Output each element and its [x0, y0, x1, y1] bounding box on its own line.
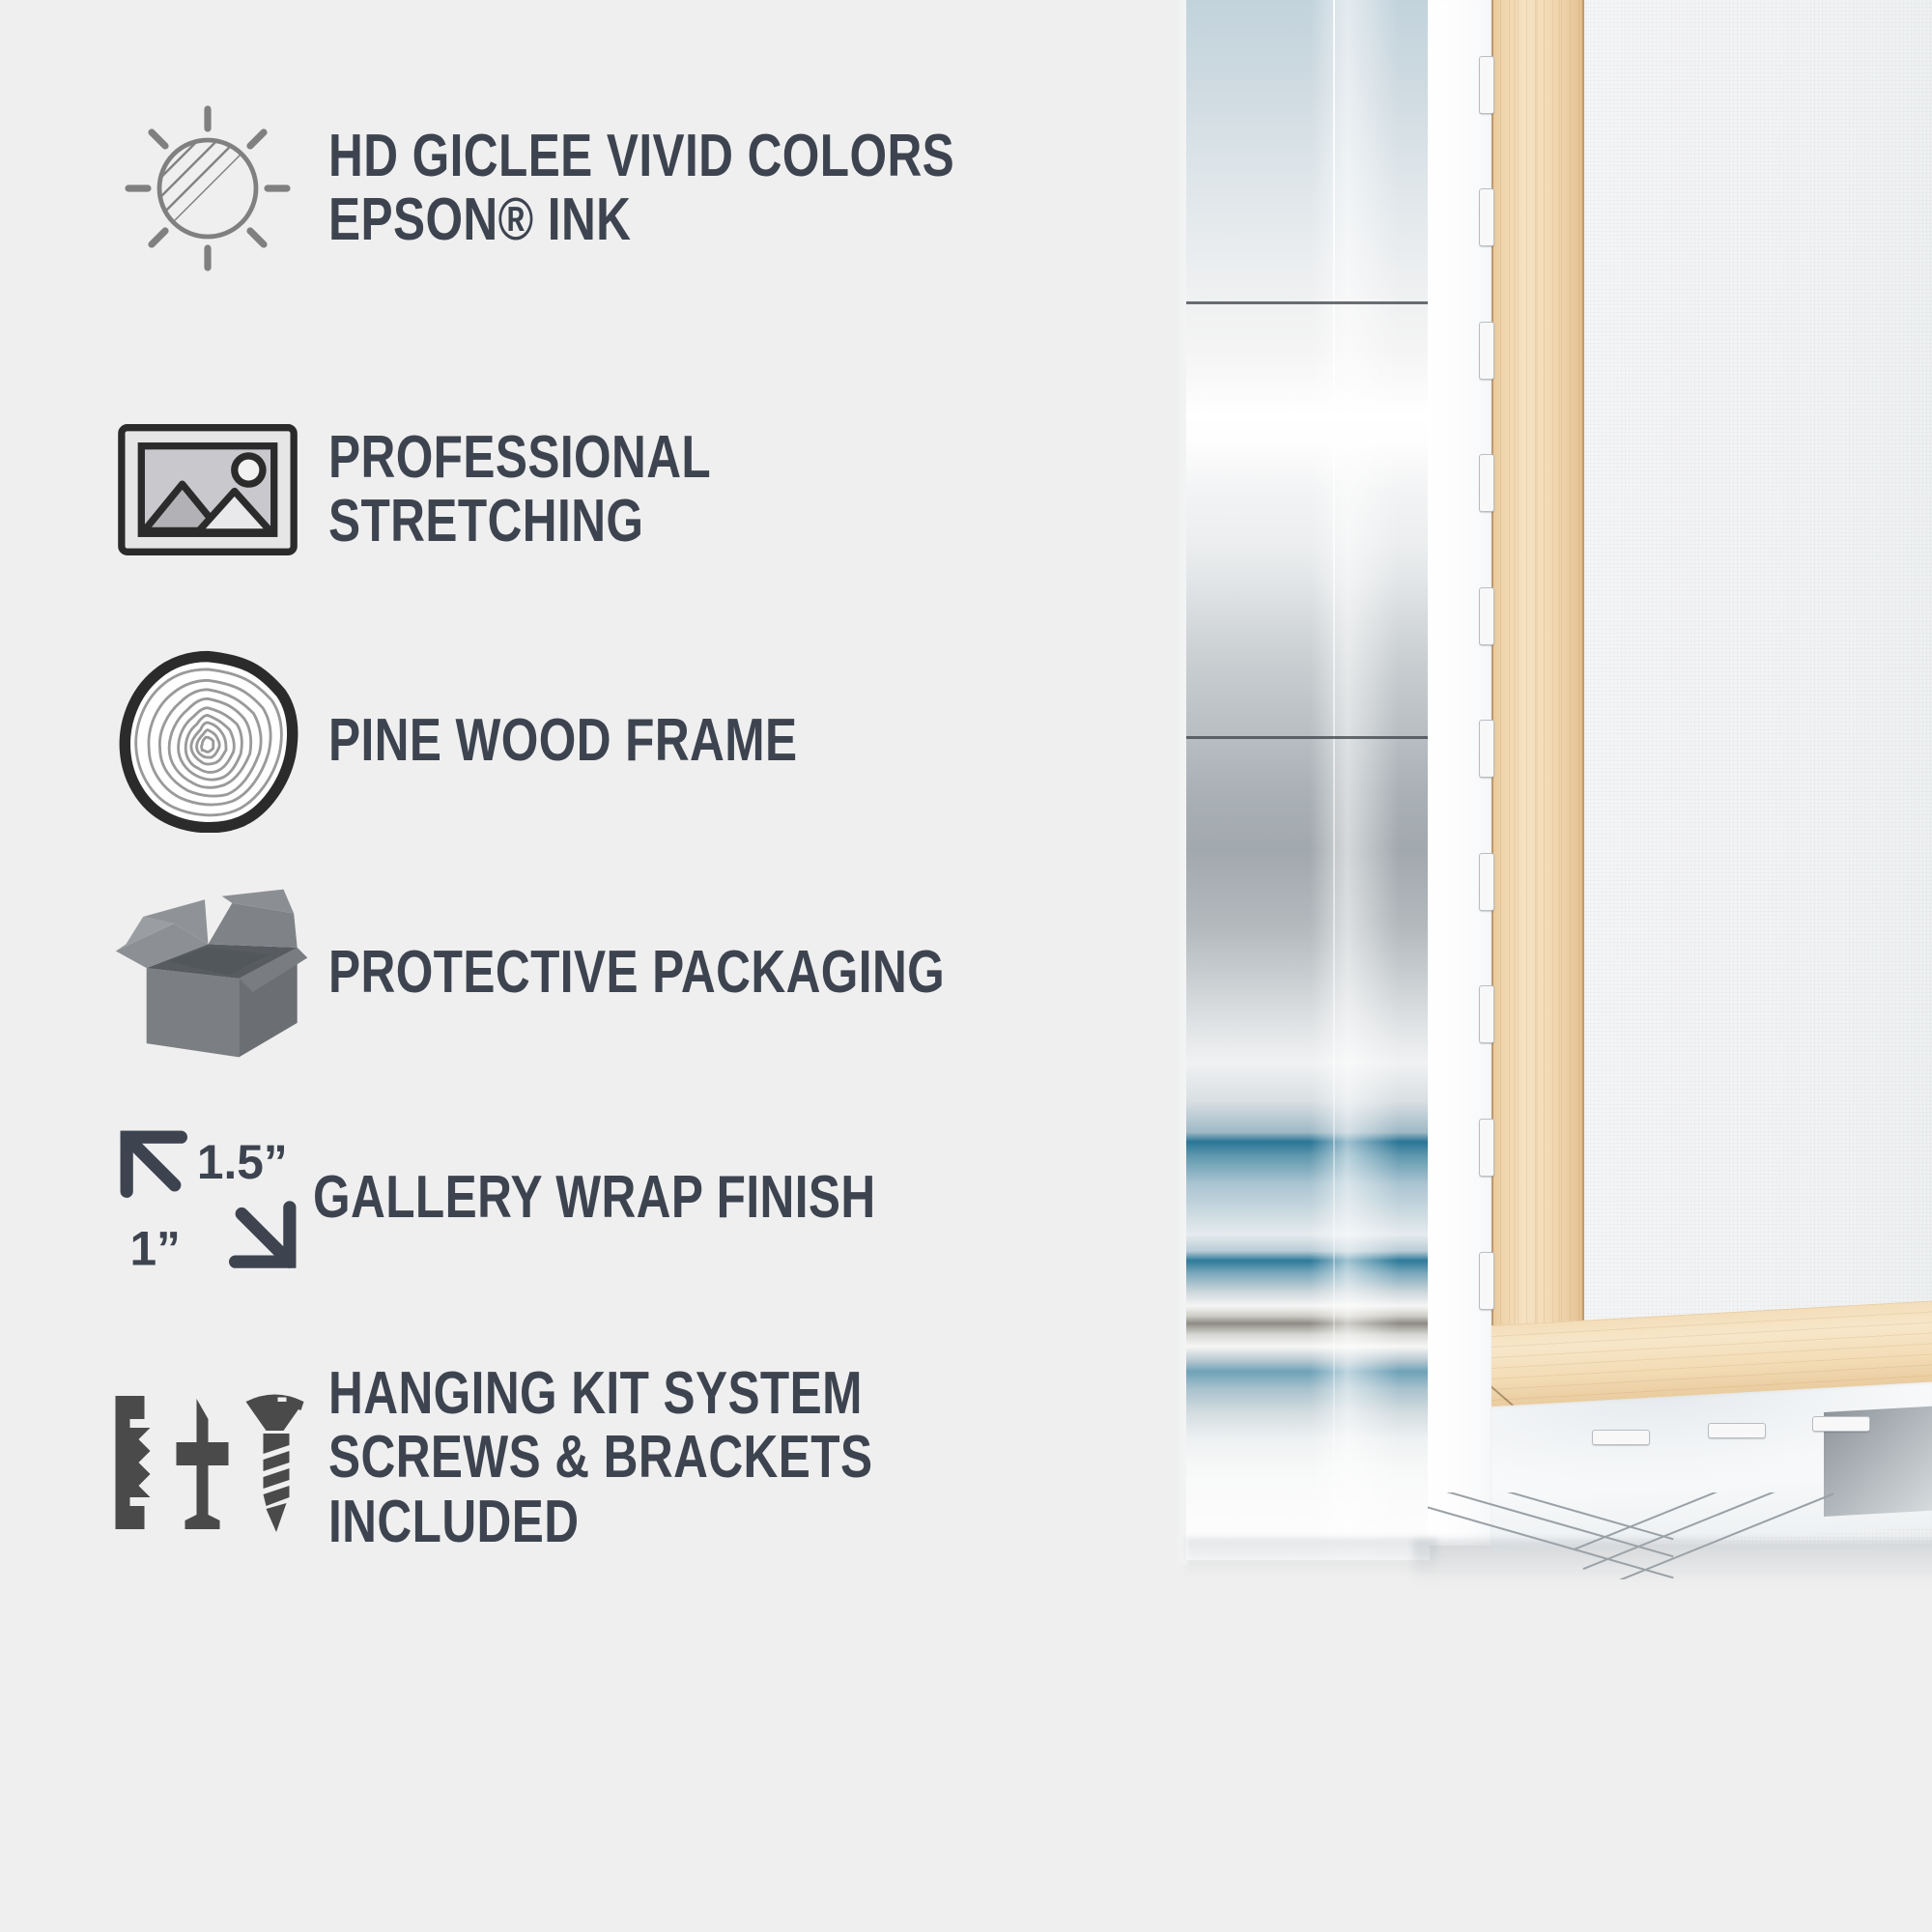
- feature-row-gallery-wrap-finish: 1.5” 1” GALLERY WRAP FINISH: [97, 1116, 1016, 1280]
- product-photo: [1186, 0, 1932, 1584]
- sun-icon: [97, 92, 319, 285]
- wrap-printed-face: [1186, 0, 1430, 1560]
- gallery-wrap-depth-bottom: 1”: [129, 1221, 180, 1275]
- feature-row-pine-wood-frame: PINE WOOD FRAME: [97, 649, 915, 833]
- staple: [1479, 1252, 1494, 1310]
- tree-rings-icon: [97, 649, 319, 833]
- staple: [1479, 985, 1494, 1043]
- gallery-wrap-depth-top: 1.5”: [196, 1135, 287, 1189]
- feature-row-professional-stretching: PROFESSIONAL STRETCHING: [97, 417, 1207, 562]
- feature-row-hanging-kit: HANGING KIT SYSTEM SCREWS & BRACKETS INC…: [97, 1362, 1207, 1554]
- staple: [1592, 1430, 1650, 1445]
- staple: [1479, 454, 1494, 512]
- picture-frame-icon: [97, 417, 319, 562]
- product-drop-shadow-left: [1186, 1538, 1437, 1577]
- wood-grain-texture: [1492, 0, 1584, 1418]
- gallery-wrap-icon: 1.5” 1”: [97, 1116, 319, 1280]
- feature-label: PROTECTIVE PACKAGING: [328, 941, 945, 1005]
- feature-row-hd-giclee: HD GICLEE VIVID COLORS EPSON® INK: [97, 92, 1111, 285]
- staple: [1479, 188, 1494, 246]
- feature-label: GALLERY WRAP FINISH: [313, 1166, 876, 1230]
- wrap-fold-line-lower: [1186, 736, 1430, 739]
- staple: [1479, 56, 1494, 114]
- staple: [1479, 322, 1494, 380]
- feature-label: HANGING KIT SYSTEM SCREWS & BRACKETS INC…: [328, 1362, 1032, 1554]
- feature-label: PINE WOOD FRAME: [328, 709, 797, 773]
- open-box-icon: [97, 879, 319, 1067]
- printed-wrapped-edge: [1186, 0, 1430, 1560]
- pine-stretcher-bar-vertical: [1492, 0, 1584, 1418]
- feature-list: HD GICLEE VIVID COLORS EPSON® INK PROFES…: [0, 0, 1207, 1932]
- feature-row-protective-packaging: PROTECTIVE PACKAGING: [97, 879, 1099, 1067]
- staple: [1812, 1416, 1870, 1432]
- feature-label: HD GICLEE VIVID COLORS EPSON® INK: [328, 125, 954, 253]
- product-drop-shadow: [1413, 1540, 1932, 1584]
- page-root: HD GICLEE VIVID COLORS EPSON® INK PROFES…: [0, 0, 1932, 1932]
- staple: [1479, 853, 1494, 911]
- staple: [1708, 1423, 1766, 1438]
- hanging-hardware-icon: [97, 1378, 319, 1538]
- staple: [1479, 587, 1494, 645]
- staple: [1479, 720, 1494, 778]
- wrap-fold-line-upper: [1186, 301, 1430, 304]
- staple: [1479, 1119, 1494, 1177]
- feature-label: PROFESSIONAL STRETCHING: [328, 426, 1032, 554]
- wrap-corner-crease: [1333, 0, 1335, 1560]
